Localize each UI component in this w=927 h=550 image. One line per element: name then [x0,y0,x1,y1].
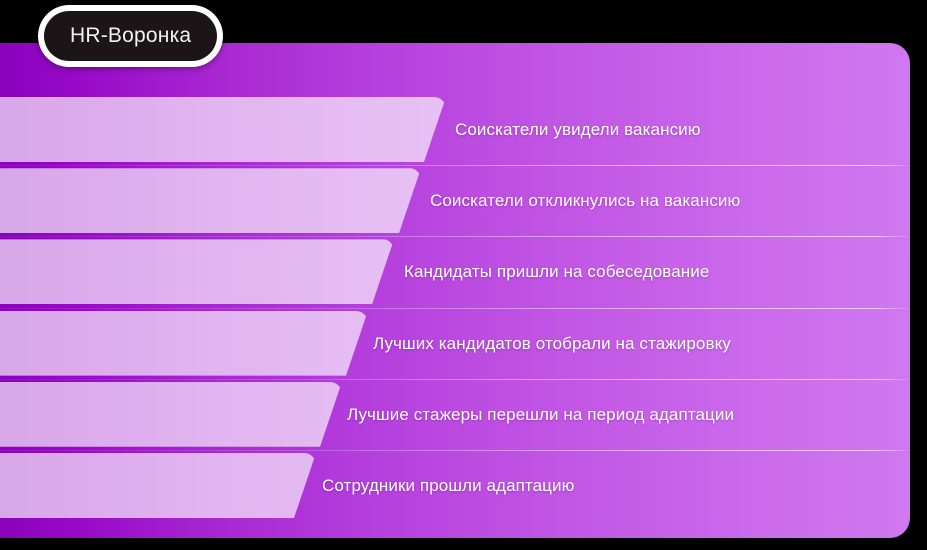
funnel-stage-label: Лучшие стажеры перешли на период адаптац… [347,379,734,450]
funnel-stage-label: Сотрудники прошли адаптацию [322,450,574,521]
funnel-stage-label: Соискатели откликнулись на вакансию [430,165,740,236]
funnel-stage-label: Лучших кандидатов отобрали на стажировку [373,308,731,379]
funnel-stage-row[interactable]: Соискатели увидели вакансию [0,94,910,165]
funnel-stage-row[interactable]: Лучших кандидатов отобрали на стажировку [0,308,910,379]
chart-title-badge-inner: HR-Воронка [44,11,217,61]
page-title: HR-Воронка [70,24,191,48]
funnel-bar[interactable] [0,453,316,518]
funnel-chart-canvas: Соискатели увидели вакансиюСоискатели от… [0,0,927,550]
funnel-bar[interactable] [0,168,421,233]
funnel-stage-row[interactable]: Соискатели откликнулись на вакансию [0,165,910,236]
funnel-stage-label: Кандидаты пришли на собеседование [404,236,709,307]
funnel-bar[interactable] [0,239,394,304]
funnel-stage-label: Соискатели увидели вакансию [455,94,701,165]
funnel-stage-row[interactable]: Сотрудники прошли адаптацию [0,450,910,521]
funnel-bar[interactable] [0,311,368,376]
chart-title-badge: HR-Воронка [38,5,223,67]
funnel-stage-row[interactable]: Лучшие стажеры перешли на период адаптац… [0,379,910,450]
funnel-bar[interactable] [0,97,446,162]
funnel-bar[interactable] [0,382,342,447]
funnel-stage-row[interactable]: Кандидаты пришли на собеседование [0,236,910,307]
funnel-card: Соискатели увидели вакансиюСоискатели от… [0,43,910,538]
